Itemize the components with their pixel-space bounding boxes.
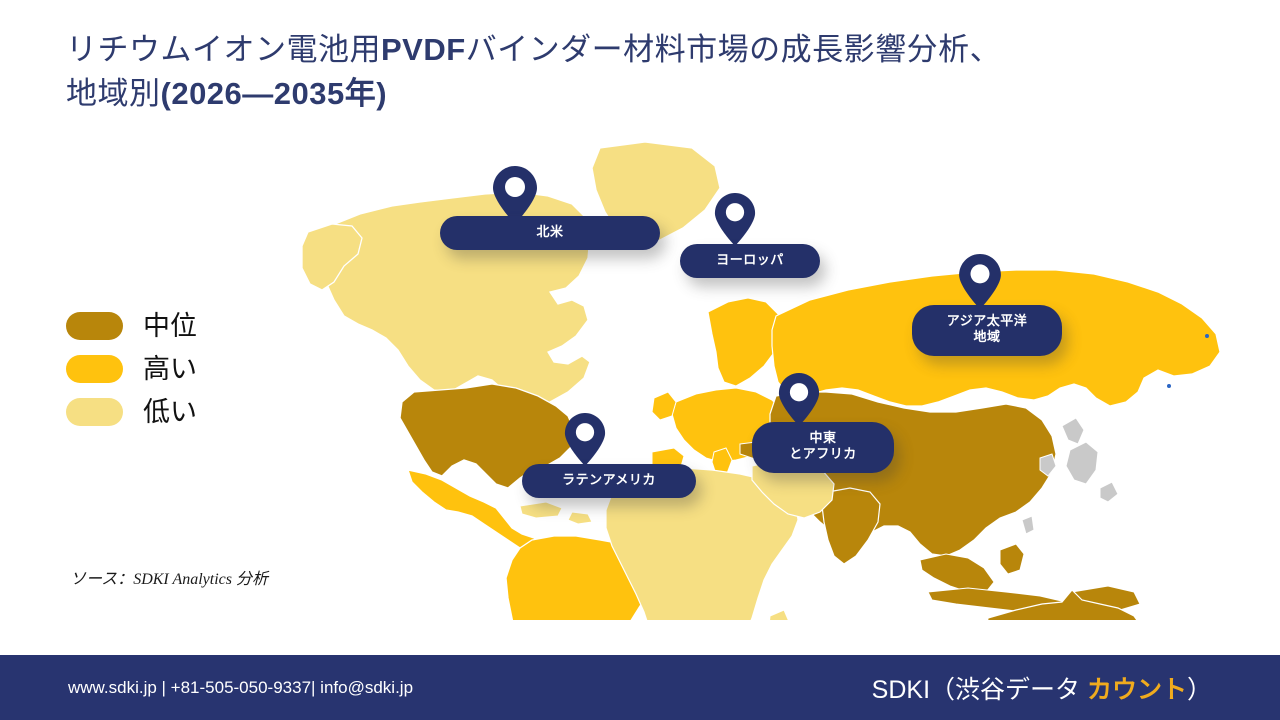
footer-brand-prefix: SDKI（渋谷データ <box>872 676 1087 704</box>
map-island-dot-1 <box>1205 334 1209 338</box>
legend-item-high: 高い <box>66 355 197 383</box>
region-japan <box>1062 418 1118 502</box>
page-title-segment-pvdf: PVDF <box>381 32 466 67</box>
map-pin-icon <box>714 192 756 247</box>
region-philippines <box>1000 544 1024 574</box>
footer-brand: SDKI（渋谷データ カウント） <box>872 670 1212 706</box>
pin-label-latin-america: ラテンアメリカ <box>522 464 696 498</box>
page-title-segment-years: (2026—2035 <box>161 76 345 111</box>
map-island-dot-2 <box>1167 384 1171 388</box>
pin-label-europe: ヨーロッパ <box>680 244 820 278</box>
legend-swatch-medium <box>66 312 123 340</box>
legend: 中位 高い 低い <box>66 312 197 441</box>
map-landmasses <box>302 142 1220 620</box>
legend-item-medium: 中位 <box>66 312 197 340</box>
page-title-segment-3: 地域別 <box>66 76 161 111</box>
legend-label-low: 低い <box>143 399 197 426</box>
title-block: リチウムイオン電池用PVDFバインダー材料市場の成長影響分析、地域別(2026—… <box>66 28 1236 116</box>
pin-label-middle-east-africa: 中東 とアフリカ <box>752 422 894 473</box>
page-title-segment-1: リチウムイオン電池用 <box>66 32 381 67</box>
legend-label-high: 高い <box>143 356 197 383</box>
region-caribbean <box>520 502 562 518</box>
region-southeast-asia <box>920 554 994 592</box>
legend-label-medium: 中位 <box>143 313 197 340</box>
legend-item-low: 低い <box>66 398 197 426</box>
region-taiwan <box>1022 516 1034 534</box>
map-pin-icon <box>958 253 1002 310</box>
page-title: リチウムイオン電池用PVDFバインダー材料市場の成長影響分析、地域別(2026—… <box>66 28 1236 116</box>
legend-swatch-low <box>66 398 123 426</box>
footer-bar: www.sdki.jp | +81-505-050-9337| info@sdk… <box>0 655 1280 720</box>
region-cuba <box>568 512 592 524</box>
page-title-segment-4: 年) <box>345 76 387 111</box>
map-pin-icon <box>564 412 606 467</box>
region-madagascar <box>768 610 790 620</box>
pin-label-asia-pacific: アジア太平洋 地域 <box>912 305 1062 356</box>
map-pin-icon <box>778 372 820 427</box>
footer-contact-info[interactable]: www.sdki.jp | +81-505-050-9337| info@sdk… <box>68 678 413 698</box>
footer-brand-suffix: ） <box>1187 676 1212 704</box>
footer-brand-accent: カウント <box>1087 676 1187 704</box>
region-british-isles <box>652 392 676 420</box>
world-map-container: 北米 ヨーロッパ アジア太平洋 地域 中東 とアフリカ ラテンアメリカ <box>300 140 1240 620</box>
legend-swatch-high <box>66 355 123 383</box>
region-mexico-central-america <box>408 470 540 552</box>
pin-label-north-america: 北米 <box>440 216 660 250</box>
world-map-svg <box>300 140 1240 620</box>
source-note: ソース：SDKI Analytics 分析 <box>70 565 268 589</box>
page-title-segment-2: バインダー材料市場の成長影響分析、 <box>466 32 1002 67</box>
region-scandinavia <box>708 298 782 386</box>
